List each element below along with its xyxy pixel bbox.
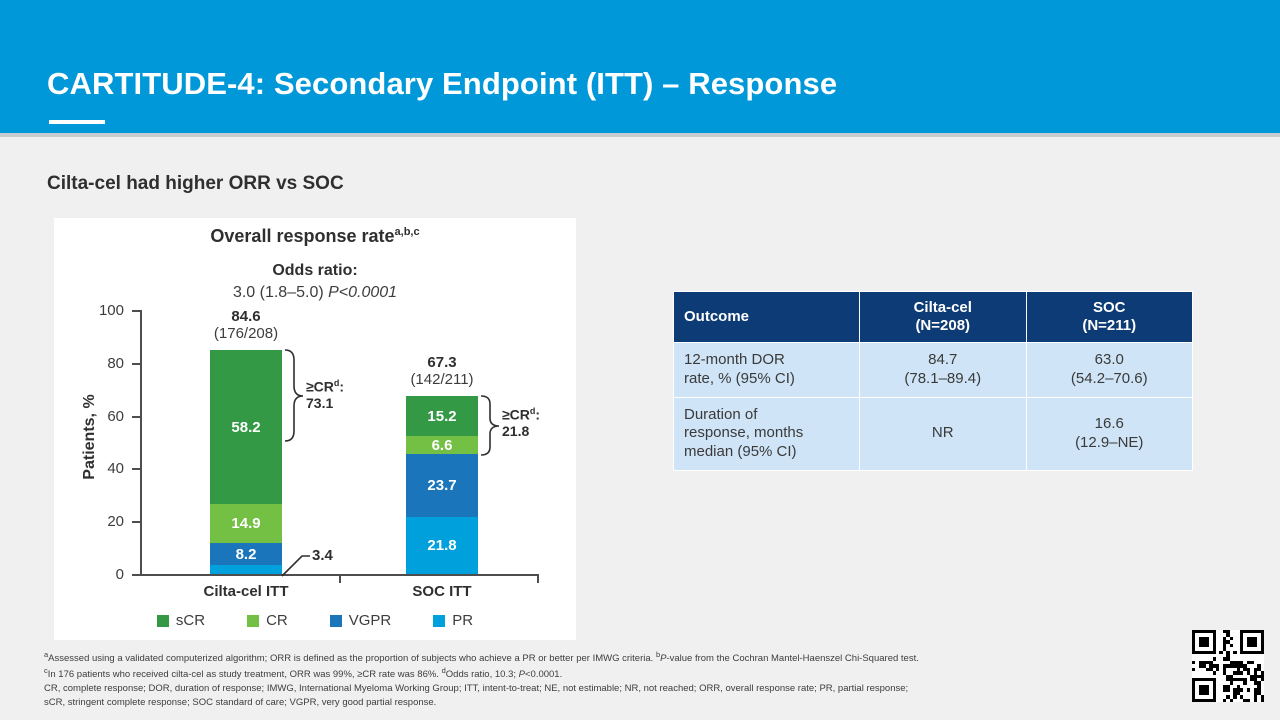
cr-bracket-cilta [283,348,305,444]
footnote-line-2: cIn 176 patients who received cilta-cel … [44,666,1084,682]
x-tick-separator [339,574,341,583]
cr-annotation-label-soc: ≥CR [502,407,530,423]
chart-legend: sCR CR VGPR PR [54,612,576,629]
bar-total-fraction-soc: (142/211) [367,371,517,388]
table-header-outcome: Outcome [674,292,860,343]
footnote-text-d: Odds ratio, 10.3; [446,669,519,680]
y-tick-0 [132,574,140,576]
outcome-duration-line2: response, months [684,424,803,441]
outcome-duration-line1: Duration of [684,406,757,423]
legend-item-cr[interactable]: CR [247,612,288,629]
y-axis-line [140,310,142,576]
table-cell-soc-dor-rate: 63.0 (54.2–70.6) [1026,343,1193,398]
y-tick-20 [132,521,140,523]
bar-total-cilta: 84.6 (176/208) [171,308,321,343]
qr-code[interactable] [1192,630,1264,702]
cr-annotation-label-cilta: ≥CR [306,379,334,395]
pr-callout-value-cilta: 3.4 [312,547,333,564]
abbreviations-line-2: sCR, stringent complete response; SOC st… [44,696,1084,710]
y-tick-80 [132,363,140,365]
slide-subhead: Cilta-cel had higher ORR vs SOC [47,173,344,195]
bar-segment-cr-cilta: 14.9 [210,504,282,543]
table-cell-outcome-dor-rate: 12-month DOR rate, % (95% CI) [674,343,860,398]
y-tick-label-20: 20 [78,514,124,529]
legend-swatch-scr-icon [157,615,169,627]
x-tick-end [537,574,539,583]
bar-segment-cr-soc: 6.6 [406,436,478,454]
slide-header: CARTITUDE-4: Secondary Endpoint (ITT) – … [0,0,1280,133]
table-row: Duration of response, months median (95%… [674,397,1193,470]
y-tick-label-40: 40 [78,461,124,476]
cr-annotation-sup-cilta: d [334,378,340,388]
legend-label-pr: PR [452,612,473,629]
outcomes-table: Outcome Cilta-cel (N=208) SOC (N=211) 12… [673,291,1193,471]
table-cell-cilta-dor-rate: 84.7 (78.1–89.4) [860,343,1027,398]
legend-item-pr[interactable]: PR [433,612,473,629]
bar-segment-pr-soc: 21.8 [406,517,478,574]
table-cell-cilta-duration: NR [860,397,1027,470]
cr-annotation-sup-soc: d [530,406,536,416]
x-category-label-soc: SOC ITT [357,583,527,600]
table-header-cilta-name: Cilta-cel [914,299,972,316]
bar-soc-itt: 15.2 6.6 23.7 21.8 [406,396,478,574]
y-tick-60 [132,416,140,418]
table-header-soc-n: (N=211) [1082,317,1136,334]
footnote-text-c: In 176 patients who received cilta-cel a… [48,669,442,680]
table-header-cilta-cel: Cilta-cel (N=208) [860,292,1027,343]
abbreviations-line-1: CR, complete response; DOR, duration of … [44,682,1084,696]
table-header-cilta-n: (N=208) [915,317,970,334]
y-tick-100 [132,310,140,312]
legend-item-vgpr[interactable]: VGPR [330,612,392,629]
legend-item-scr[interactable]: sCR [157,612,205,629]
legend-label-scr: sCR [176,612,205,629]
bar-segment-scr-cilta: 58.2 [210,350,282,504]
y-tick-label-0: 0 [78,567,124,582]
legend-label-vgpr: VGPR [349,612,392,629]
outcome-dor-line1: 12-month DOR [684,351,785,368]
cilta-dor-value: 84.7 [928,351,957,368]
bar-total-value-cilta: 84.6 [171,308,321,325]
pr-callout-leader-line [280,552,310,578]
bar-total-value-soc: 67.3 [367,354,517,371]
footnote-text-d-rest: <0.0001. [525,669,562,680]
title-underline-accent [49,120,105,124]
legend-swatch-pr-icon [433,615,445,627]
legend-swatch-cr-icon [247,615,259,627]
table-header-soc: SOC (N=211) [1026,292,1193,343]
y-tick-label-100: 100 [78,303,124,318]
footnote-line-1: aAssessed using a validated computerized… [44,650,1084,666]
cr-annotation-cilta: ≥CRd: 73.1 [306,378,344,411]
bar-segment-pr-cilta [210,565,282,574]
soc-dor-ci: (54.2–70.6) [1071,370,1148,387]
table-cell-outcome-duration: Duration of response, months median (95%… [674,397,860,470]
y-tick-40 [132,468,140,470]
page-title: CARTITUDE-4: Secondary Endpoint (ITT) – … [47,66,837,102]
outcome-dor-line2: rate, % (95% CI) [684,370,795,387]
soc-duration-value: 16.6 [1095,415,1124,432]
legend-swatch-vgpr-icon [330,615,342,627]
footnotes-block: aAssessed using a validated computerized… [44,650,1084,709]
table-header-soc-name: SOC [1093,299,1126,316]
soc-dor-value: 63.0 [1095,351,1124,368]
y-tick-label-80: 80 [78,356,124,371]
cr-annotation-soc: ≥CRd: 21.8 [502,406,540,439]
bar-segment-vgpr-soc: 23.7 [406,454,478,517]
cilta-duration-value: NR [932,424,954,441]
table-cell-soc-duration: 16.6 (12.9–NE) [1026,397,1193,470]
legend-label-cr: CR [266,612,288,629]
chart-plot-area: Patients, % 0 20 40 60 80 100 58.2 14.9 … [54,218,576,640]
footnote-text-b: -value from the Cochran Mantel-Haenszel … [666,653,918,664]
bar-segment-vgpr-cilta: 8.2 [210,543,282,565]
footnote-text-a: Assessed using a validated computerized … [48,653,656,664]
soc-duration-ci: (12.9–NE) [1075,434,1143,451]
response-chart-card: Overall response ratea,b,c Odds ratio: 3… [54,218,576,640]
x-category-label-cilta: Cilta-cel ITT [161,583,331,600]
bar-segment-scr-soc: 15.2 [406,396,478,436]
bar-total-fraction-cilta: (176/208) [171,325,321,342]
header-divider [0,133,1280,137]
cr-bracket-soc [479,394,501,458]
cilta-dor-ci: (78.1–89.4) [904,370,981,387]
y-tick-label-60: 60 [78,409,124,424]
cr-annotation-value-soc: 21.8 [502,423,529,439]
cr-annotation-value-cilta: 73.1 [306,395,333,411]
outcome-duration-line3: median (95% CI) [684,443,797,460]
table-row: 12-month DOR rate, % (95% CI) 84.7 (78.1… [674,343,1193,398]
table-header-row: Outcome Cilta-cel (N=208) SOC (N=211) [674,292,1193,343]
bar-cilta-cel-itt: 58.2 14.9 8.2 [210,350,282,574]
y-axis-title: Patients, % [81,357,99,517]
bar-total-soc: 67.3 (142/211) [367,354,517,389]
